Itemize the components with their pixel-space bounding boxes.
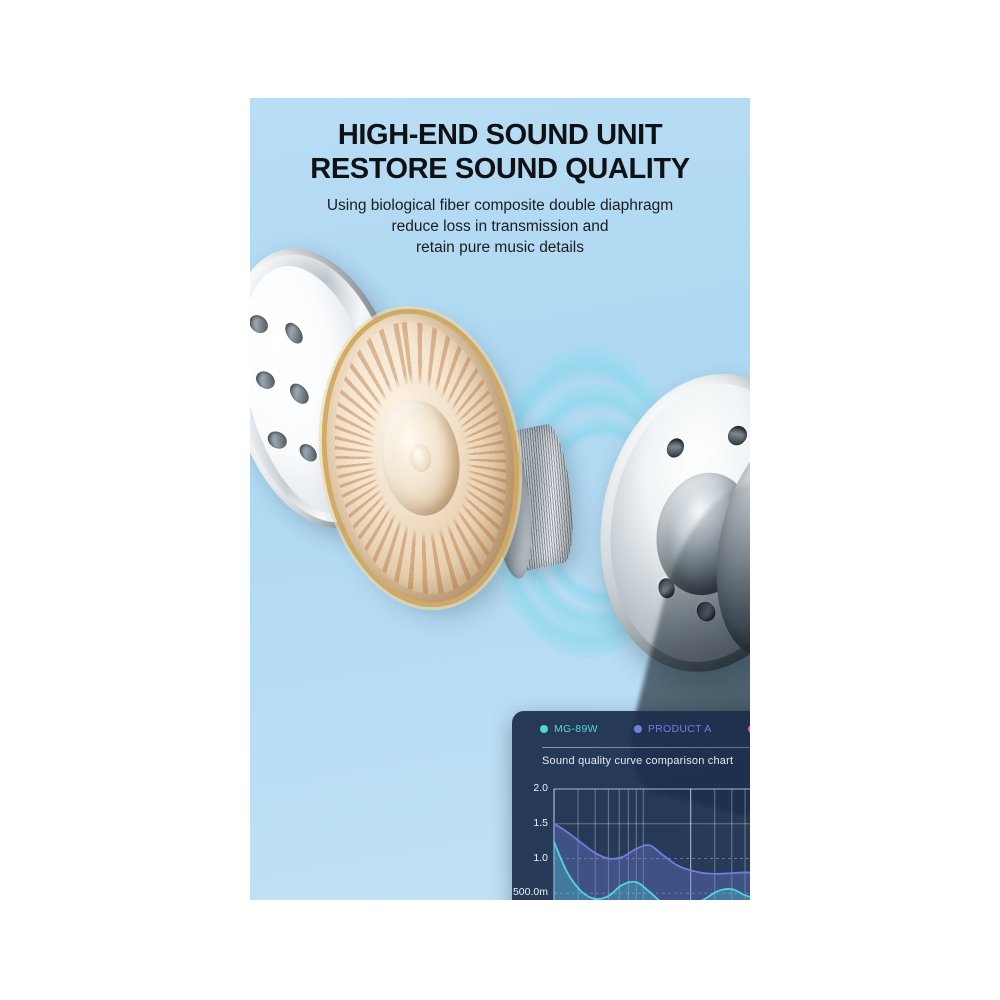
sound-quality-chart-panel: MG-89W PRODUCT A PRODUCT B Sound quality… [512, 711, 750, 900]
y-axis-tick-label: 2.0 [533, 782, 548, 794]
page-title-line-2: RESTORE SOUND QUALITY [250, 152, 750, 186]
subtitle-line-2: reduce loss in transmission and [250, 216, 750, 237]
poster-root: HIGH-END SOUND UNIT RESTORE SOUND QUALIT… [0, 0, 1000, 1000]
poster-canvas: HIGH-END SOUND UNIT RESTORE SOUND QUALIT… [250, 98, 750, 900]
y-axis-tick-label: 1.5 [533, 817, 548, 829]
subtitle-line-3: retain pure music details [250, 237, 750, 258]
y-axis-tick-label: 1.0 [533, 852, 548, 864]
grille-slot [282, 319, 306, 346]
grille-slot [296, 441, 320, 465]
diaphragm-inner-dome [408, 443, 433, 473]
driver-vent-hole [664, 435, 687, 460]
page-title-line-1: HIGH-END SOUND UNIT [250, 118, 750, 152]
y-axis-tick-label: 500.0m [513, 886, 548, 898]
headings-block: HIGH-END SOUND UNIT RESTORE SOUND QUALIT… [250, 118, 750, 258]
grille-slot [250, 312, 272, 338]
page-subtitle: Using biological fiber composite double … [250, 195, 750, 258]
chart-svg [512, 711, 750, 900]
grille-slot [252, 368, 278, 393]
grille-slot [265, 428, 291, 452]
grille-slot [286, 380, 312, 407]
chart-plot-area: 2.01.51.0500.0m(&) 020200200020000 [512, 711, 750, 900]
subtitle-line-1: Using biological fiber composite double … [250, 195, 750, 216]
driver-vent-hole [725, 422, 750, 448]
